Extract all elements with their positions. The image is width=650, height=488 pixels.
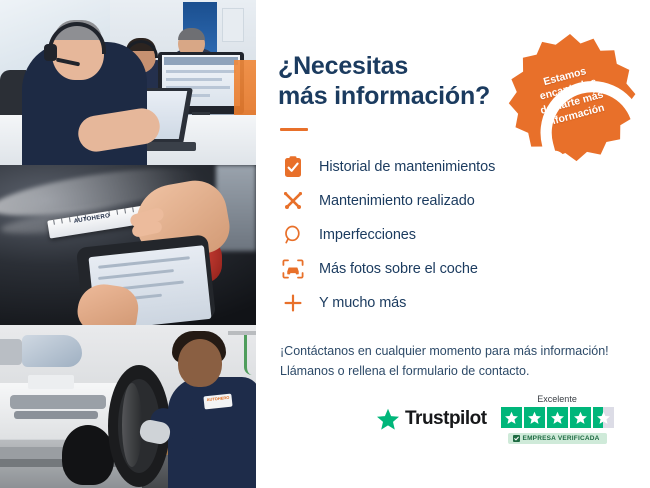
car-plate-area — [28, 375, 74, 389]
trustpilot-star-icon — [376, 408, 400, 431]
heading-line-1: ¿Necesitas — [278, 52, 408, 80]
wheel-highlight — [122, 383, 142, 467]
contact-copy-line-2: Llámanos o rellena el formulario de cont… — [280, 361, 628, 381]
verified-check-icon — [513, 435, 520, 442]
contact-copy: ¡Contáctanos en cualquier momento para m… — [280, 341, 628, 382]
photo-call-center — [0, 0, 256, 165]
feature-label: Mantenimiento realizado — [319, 193, 475, 209]
rear-wheel — [62, 425, 114, 485]
car-lower-vent — [14, 411, 98, 419]
support-badge: Estamos encantados de darte más informac… — [504, 30, 636, 162]
wall-poster-small — [222, 8, 244, 42]
monitor-screen-row — [166, 70, 236, 73]
monitor-screen-toolbar — [164, 57, 238, 65]
verified-company-badge: EMPRESA VERIFICADA — [508, 433, 607, 444]
mechanic-head — [178, 339, 222, 387]
feature-item-much-more[interactable]: Y mucho más — [280, 287, 628, 319]
feature-item-more-photos[interactable]: Más fotos sobre el coche — [280, 253, 628, 285]
info-promo-card: AUTOHERO — [0, 0, 650, 488]
content-panel: Estamos encantados de darte más informac… — [256, 0, 650, 488]
star-filled — [524, 407, 545, 428]
car-photo-frame-icon — [280, 256, 306, 282]
wrench-screwdriver-icon — [280, 188, 306, 214]
magnifier-icon — [280, 222, 306, 248]
star-rating — [501, 407, 614, 428]
workshop-hose — [244, 335, 252, 375]
car-lower-vent — [10, 395, 106, 409]
star-filled — [570, 407, 591, 428]
checklist-document-icon — [280, 154, 306, 180]
car-grille — [0, 339, 22, 365]
star-half — [593, 407, 614, 428]
headset-earcup — [44, 44, 57, 61]
photo-column: AUTOHERO — [0, 0, 256, 488]
car-headlight — [22, 335, 82, 367]
page-title: ¿Necesitas más información? — [278, 52, 508, 111]
star-filled — [501, 407, 522, 428]
feature-label: Imperfecciones — [319, 227, 416, 243]
monitor-screen-row — [166, 78, 222, 81]
trustpilot-logo: Trustpilot — [376, 408, 487, 431]
plus-icon — [280, 290, 306, 316]
feature-label: Historial de mantenimientos — [319, 159, 495, 175]
contact-copy-line-1: ¡Contáctanos en cualquier momento para m… — [280, 341, 628, 361]
feature-label: Y mucho más — [319, 295, 406, 311]
photo-body-inspection: AUTOHERO — [0, 165, 256, 325]
star-filled — [547, 407, 568, 428]
title-underline — [280, 128, 308, 131]
trustpilot-wordmark: Trustpilot — [405, 408, 487, 430]
trustpilot-score: Excelente — [501, 394, 614, 444]
heading-line-2: más información? — [278, 82, 508, 112]
verified-label: EMPRESA VERIFICADA — [523, 435, 600, 442]
feature-item-imperfections[interactable]: Imperfecciones — [280, 219, 628, 251]
trustpilot-rating[interactable]: Trustpilot Excelente — [376, 394, 614, 444]
feature-label: Más fotos sobre el coche — [319, 261, 478, 277]
rating-label: Excelente — [537, 394, 577, 404]
photo-wheel-inspection: AUTOHERO — [0, 325, 256, 488]
